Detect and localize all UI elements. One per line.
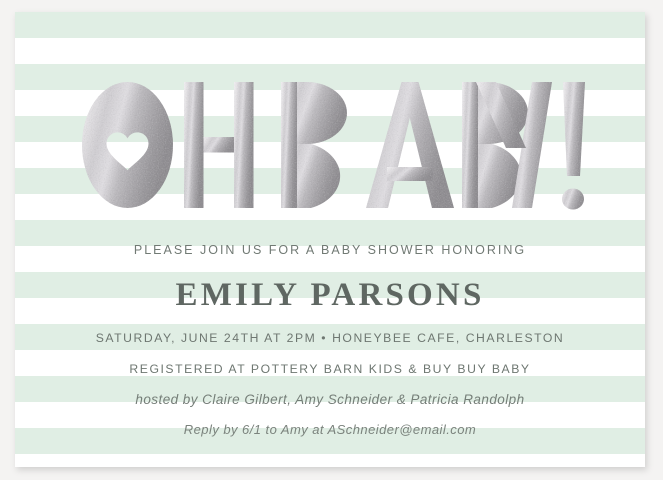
baby-shower-invitation-card: PLEASE JOIN US FOR A BABY SHOWER HONORIN…	[15, 12, 645, 467]
intro-line: PLEASE JOIN US FOR A BABY SHOWER HONORIN…	[15, 243, 645, 257]
letter-o-with-heart	[82, 82, 173, 208]
headline-oh-baby	[15, 72, 645, 218]
event-details-line: SATURDAY, JUNE 24TH AT 2PM • HONEYBEE CA…	[15, 331, 645, 345]
invitation-content: PLEASE JOIN US FOR A BABY SHOWER HONORIN…	[15, 12, 645, 467]
honoree-name: EMILY PARSONS	[15, 277, 645, 314]
letter-b	[281, 82, 347, 208]
registry-line: REGISTERED AT POTTERY BARN KIDS & BUY BU…	[15, 362, 645, 376]
letter-a	[366, 82, 454, 208]
screenshot-stage: PLEASE JOIN US FOR A BABY SHOWER HONORIN…	[0, 0, 663, 480]
letter-h	[184, 82, 254, 208]
exclamation-mark	[562, 82, 585, 210]
reply-line: Reply by 6/1 to Amy at ASchneider@email.…	[15, 422, 645, 437]
hosts-line: hosted by Claire Gilbert, Amy Schneider …	[15, 392, 645, 407]
oh-baby-foil-lettering	[62, 79, 598, 211]
